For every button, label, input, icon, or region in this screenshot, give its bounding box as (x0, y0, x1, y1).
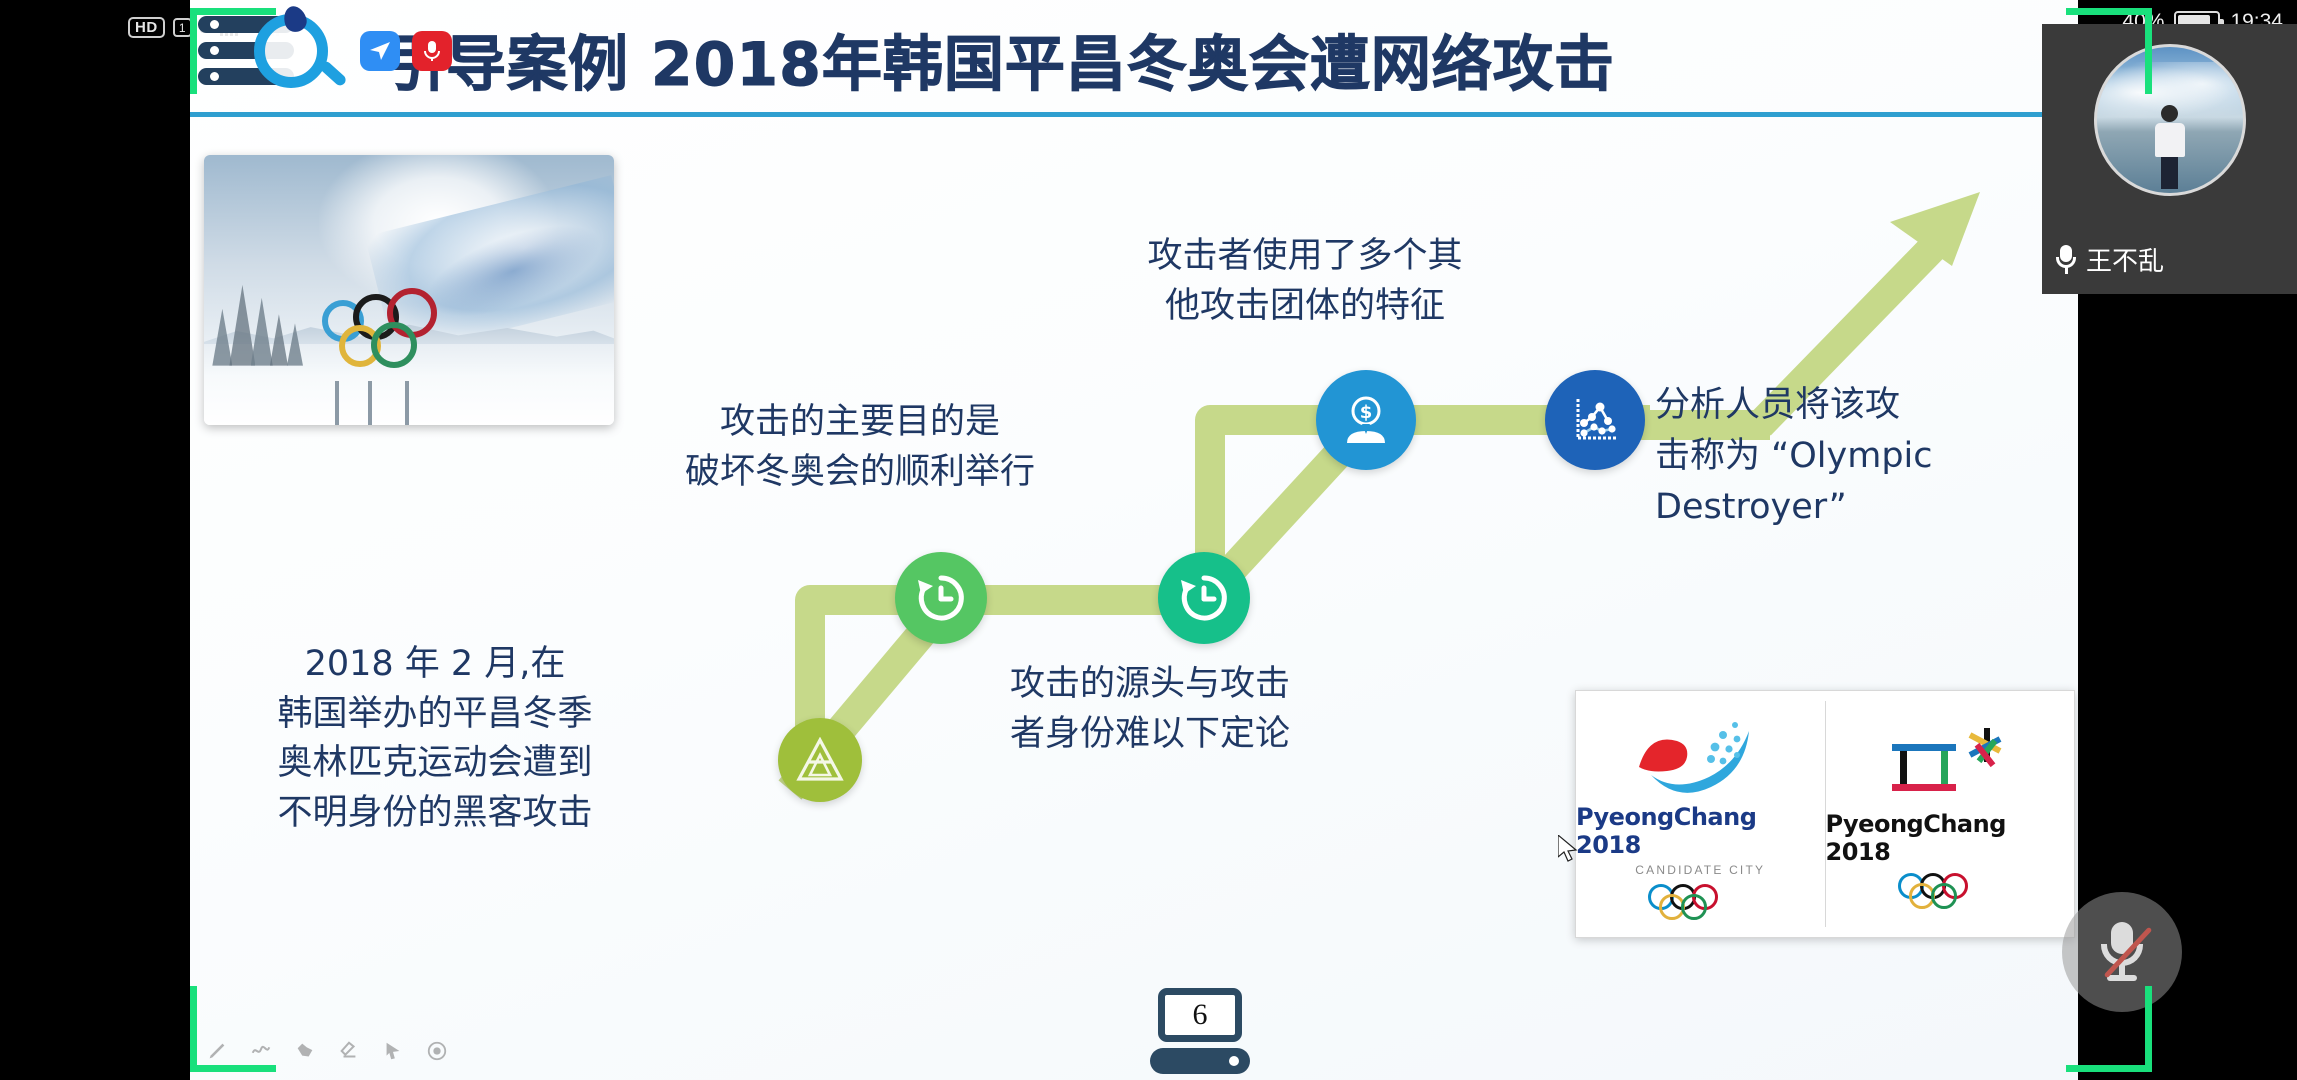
history-clock-icon (1176, 570, 1232, 626)
olympic-rings-icon (1898, 873, 2002, 907)
page-indicator-base (1150, 1048, 1250, 1074)
microphone-muted-icon (2101, 922, 2143, 982)
pyeongchang-official-logo: PyeongChang 2018 (1826, 691, 2075, 937)
participant-footer: 王不乱 (2056, 241, 2164, 278)
slide-text-traits: 攻击者使用了多个其 他攻击团体的特征 (1105, 232, 1505, 331)
focus-corner-top-left (190, 8, 276, 94)
svg-text:$: $ (1360, 402, 1373, 423)
user-dollar-icon: $ (1337, 391, 1395, 449)
step-node-5[interactable] (1545, 370, 1645, 470)
page-number: 6 (1158, 988, 1242, 1042)
official-logo-name: PyeongChang 2018 (1826, 810, 2075, 866)
slide-text-purpose: 攻击的主要目的是 破坏冬奥会的顺利举行 (645, 398, 1075, 497)
focus-corner-bottom-right (2066, 986, 2152, 1072)
candidate-city-mark (1625, 711, 1775, 803)
official-emblem-mark (1880, 722, 2020, 810)
history-clock-icon (913, 570, 969, 626)
slide-title-band: 引导案例 2018年韩国平昌冬奥会遭网络攻击 (190, 0, 2078, 116)
pyeongchang-candidate-logo: PyeongChang 2018 CANDIDATE CITY (1576, 691, 1825, 937)
eraser-icon[interactable] (338, 1040, 360, 1062)
participant-name: 王不乱 (2086, 241, 2164, 278)
candidate-logo-subtitle: CANDIDATE CITY (1635, 863, 1765, 877)
slide-title: 引导案例 2018年韩国平昌冬奥会遭网络攻击 (385, 16, 1615, 103)
step-node-4[interactable]: $ (1316, 370, 1416, 470)
focus-corner-top-right (2066, 8, 2152, 94)
title-underline (190, 112, 2078, 117)
olympic-rings-icon (1648, 884, 1752, 918)
microphone-record-icon[interactable] (412, 31, 452, 71)
slide-canvas[interactable]: 引导案例 2018年韩国平昌冬奥会遭网络攻击 (190, 0, 2078, 1080)
pyramid-triangle-icon (796, 737, 844, 783)
slide-text-naming: 分析人员将该攻 击称为 “Olympic Destroyer” (1655, 380, 1985, 532)
screen-root: 引导案例 2018年韩国平昌冬奥会遭网络攻击 (0, 0, 2297, 1080)
avatar-person (2155, 105, 2185, 189)
pointer-icon[interactable] (382, 1040, 404, 1062)
candidate-logo-name: PyeongChang 2018 (1576, 803, 1825, 859)
step-node-1[interactable] (778, 718, 862, 802)
olympic-rings-sculpture (319, 258, 499, 398)
step-node-3[interactable] (1158, 552, 1250, 644)
line-chart-icon (1566, 391, 1624, 449)
focus-corner-bottom-left (190, 986, 276, 1072)
hd-icon: HD (128, 17, 165, 38)
microphone-icon (2056, 245, 2076, 275)
step-node-2[interactable] (895, 552, 987, 644)
pyeongchang-logo-card: PyeongChang 2018 CANDIDATE CITY (1575, 690, 2075, 938)
snow-trees (208, 274, 315, 366)
slide-text-origin: 2018 年 2 月,在 韩国举办的平昌冬季 奥林匹克运动会遭到 不明身份的黑客… (220, 640, 650, 839)
shape-icon[interactable] (294, 1040, 316, 1062)
paper-plane-icon[interactable] (360, 31, 400, 71)
olympic-rings-photo (204, 155, 614, 425)
laser-icon[interactable] (426, 1040, 448, 1062)
page-indicator: 6 (1150, 988, 1250, 1066)
slide-text-attribution: 攻击的源头与攻击 者身份难以下定论 (950, 660, 1350, 759)
sim-card-icon: 1 (173, 18, 192, 37)
